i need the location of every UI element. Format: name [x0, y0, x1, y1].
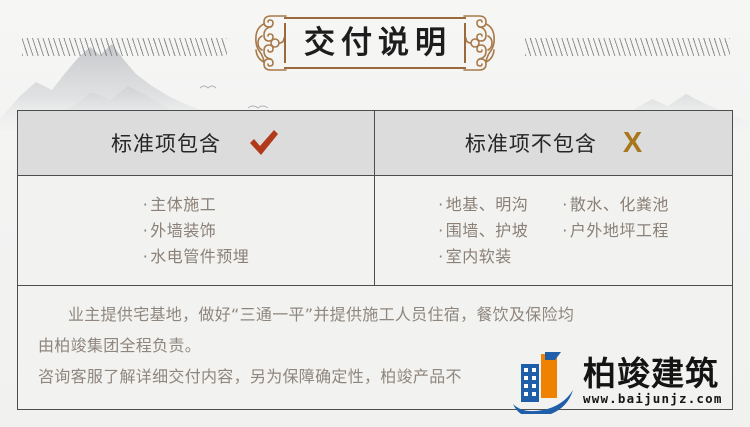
- list-item: 围墙、护坡: [438, 218, 528, 244]
- list-item: 室内软装: [438, 244, 528, 270]
- cloud-scroll-ornament-right-icon: [463, 12, 497, 74]
- list-item: 地基、明沟: [438, 192, 528, 218]
- excluded-items-cell: 地基、明沟 围墙、护坡 室内软装 散水、化粪池 户外地坪工程: [375, 176, 732, 285]
- brand-url: www.baijunjz.com: [583, 393, 723, 406]
- table-header-row: 标准项包含 标准项不包含 X: [18, 111, 732, 176]
- title-banner: 交付说明: [253, 11, 497, 75]
- list-item: 户外地坪工程: [562, 218, 669, 244]
- building-logo-icon: [505, 348, 577, 414]
- hatch-decoration-right: [525, 38, 730, 56]
- note-line-1: 业主提供宅基地，做好“三通一平”并提供施工人员住宿，餐饮及保险均: [38, 299, 714, 330]
- list-item: 主体施工: [143, 192, 250, 218]
- excluded-items-column-1: 地基、明沟 围墙、护坡 室内软装: [438, 192, 528, 270]
- delivery-spec-banner: 交付说明: [0, 0, 750, 427]
- excluded-items-column-2: 散水、化粪池 户外地坪工程: [562, 192, 669, 244]
- list-item: 外墙装饰: [143, 218, 250, 244]
- excluded-header-label: 标准项不包含: [465, 128, 597, 158]
- hatch-decoration-left: [22, 38, 227, 56]
- included-header-label: 标准项包含: [111, 128, 221, 158]
- brand-name: 柏竣建筑: [583, 357, 723, 390]
- list-item: 散水、化粪池: [562, 192, 669, 218]
- check-mark-icon: [247, 128, 281, 158]
- included-items-column-1: 主体施工 外墙装饰 水电管件预埋: [143, 192, 250, 270]
- watermark-logo: 柏竣建筑 www.baijunjz.com: [505, 345, 745, 417]
- cloud-scroll-ornament-left-icon: [253, 12, 287, 74]
- title-frame: 交付说明: [284, 17, 466, 69]
- table-header-included: 标准项包含: [18, 111, 375, 175]
- table-body-row: 主体施工 外墙装饰 水电管件预埋 地基、明沟 围墙、护坡 室内软装 散水、化粪池: [18, 176, 732, 286]
- table-header-excluded: 标准项不包含 X: [375, 111, 732, 175]
- included-items-cell: 主体施工 外墙装饰 水电管件预埋: [18, 176, 375, 285]
- list-item: 水电管件预埋: [143, 244, 250, 270]
- page-header: 交付说明: [0, 0, 750, 104]
- x-mark-icon: X: [623, 129, 642, 158]
- page-title: 交付说明: [298, 28, 452, 59]
